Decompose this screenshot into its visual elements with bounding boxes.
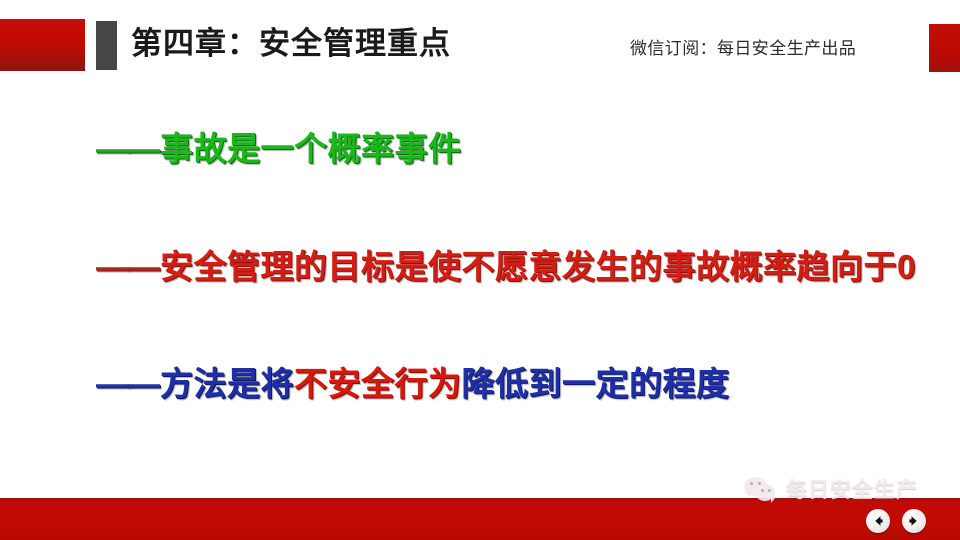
bullet-text-2: 安全管理的目标是使不愿意发生的事故概率趋向于0 xyxy=(160,248,916,285)
bullet-dash-1: —— xyxy=(96,130,158,167)
bullet-text-3-part-2: 降低到一定的程度 xyxy=(462,365,730,402)
bullet-line-3: ——方法是将不安全行为降低到一定的程度 xyxy=(96,366,730,402)
bullet-line-1: ——事故是一个概率事件 xyxy=(96,131,462,167)
wechat-icon xyxy=(744,475,778,503)
bullet-text-3-highlight: 不安全行为 xyxy=(294,365,462,402)
header-red-block-right xyxy=(929,24,960,72)
watermark-logo-label: 每日安全生产 xyxy=(786,474,918,504)
bullet-dash-2: —— xyxy=(96,248,158,285)
bullet-text-1: 事故是一个概率事件 xyxy=(160,130,462,167)
slide-navigation xyxy=(866,509,926,533)
header-gray-accent-bar xyxy=(96,21,117,70)
bullet-line-2: ——安全管理的目标是使不愿意发生的事故概率趋向于0 xyxy=(96,249,916,285)
slide-canvas: 第四章：安全管理重点 微信订阅：每日安全生产出品 ——事故是一个概率事件 ——安… xyxy=(0,0,960,540)
bullet-dash-3: —— xyxy=(96,365,158,402)
arrow-left-icon[interactable] xyxy=(866,509,890,533)
page-title: 第四章：安全管理重点 xyxy=(131,22,451,66)
watermark-logo: 每日安全生产 xyxy=(744,470,944,508)
arrow-right-icon[interactable] xyxy=(902,509,926,533)
subscription-note: 微信订阅：每日安全生产出品 xyxy=(630,34,856,59)
header-red-block-left xyxy=(0,19,85,71)
bullet-text-3-part-1: 方法是将 xyxy=(160,365,294,402)
